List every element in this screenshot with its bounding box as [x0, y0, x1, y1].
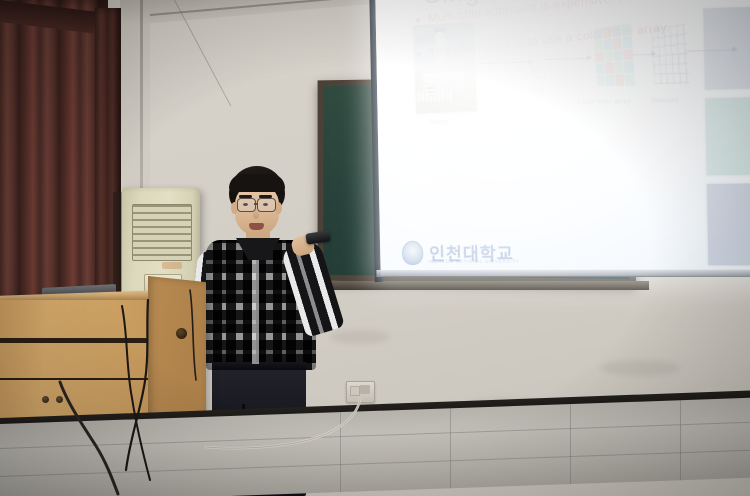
color-filter-array — [593, 23, 635, 86]
cfa-cell-3-0 — [596, 63, 605, 74]
university-crest-icon — [402, 240, 423, 264]
podium-side-hole — [176, 328, 187, 339]
output-image-panel-1 — [703, 6, 750, 90]
picket-fence — [418, 90, 453, 102]
cfa-cell-1-2 — [612, 37, 622, 49]
floor-tile-line — [570, 404, 571, 484]
ac-brand-badge — [162, 262, 182, 269]
cfa-cell-1-1 — [603, 38, 612, 50]
label-color-filter-array: Color filter array — [577, 98, 631, 106]
cfa-cell-0-3 — [621, 23, 631, 36]
cfa-cell-2-0 — [595, 51, 604, 62]
outlet-socket-round — [360, 385, 370, 394]
floor-tile-line — [680, 400, 681, 480]
screen-surface: Single Multi-chip approach is expensive.… — [375, 0, 750, 276]
cfa-cell-4-2 — [615, 74, 625, 86]
label-lens: Lens — [529, 86, 545, 94]
outlet-socket-square — [350, 386, 360, 396]
presenter-mouth — [249, 223, 264, 230]
presenter-belt — [212, 362, 306, 370]
cfa-cell-1-0 — [594, 40, 603, 52]
podium-vent-hole — [42, 396, 49, 403]
flag — [427, 87, 434, 96]
presentation-clicker — [305, 230, 330, 245]
glasses-lens-right — [257, 198, 276, 212]
cfa-cell-4-3 — [625, 74, 635, 86]
floor-tile-line — [0, 422, 750, 449]
presenter-nose — [253, 208, 259, 219]
label-scene: Scene — [430, 118, 450, 125]
wall-power-outlet[interactable] — [346, 381, 375, 403]
cfa-cell-2-2 — [613, 49, 623, 61]
cfa-cell-3-1 — [605, 63, 614, 75]
arrow-lens-to-cfa — [545, 58, 589, 61]
cfa-cell-4-0 — [596, 75, 605, 86]
arrow-head-icon — [587, 55, 592, 61]
window-curtain — [0, 0, 108, 320]
floor-tile-line — [450, 408, 451, 488]
ac-vent-grille — [132, 204, 192, 261]
cfa-cell-1-3 — [622, 36, 632, 49]
podium-vent-hole — [56, 396, 63, 403]
podium-seam — [0, 378, 152, 380]
presenter-hair-fringe — [229, 174, 285, 192]
lecture-room-photo: Single Multi-chip approach is expensive.… — [0, 0, 750, 496]
wall-scuff — [330, 330, 390, 344]
cfa-cell-0-1 — [602, 26, 611, 38]
projection-screen: Single Multi-chip approach is expensive.… — [375, 0, 750, 282]
imaging-pipeline-diagram: Scene Lens Color filter array Sensors — [375, 0, 750, 276]
sensor-array — [651, 24, 689, 85]
glasses-bridge — [254, 203, 258, 205]
wall-scuff — [600, 360, 680, 376]
cfa-cell-2-1 — [604, 51, 613, 63]
output-image-panel-2 — [705, 97, 750, 176]
floor-tile-line — [0, 450, 750, 477]
lens-glyph — [526, 46, 551, 82]
cfa-cell-3-2 — [614, 62, 624, 74]
floor-tile-line — [340, 412, 341, 492]
chalk-tray — [321, 281, 649, 290]
arrow-scene-to-lens — [481, 62, 530, 65]
presenter-ear-right — [275, 202, 282, 214]
label-sensors: Sensors — [651, 97, 678, 105]
lighthouse-tower — [435, 32, 446, 77]
cfa-cell-3-3 — [624, 61, 634, 73]
scene-photo-thumbnail — [413, 22, 477, 114]
cfa-cell-0-2 — [612, 25, 622, 38]
screen-bottom-rail — [377, 269, 750, 277]
cfa-cell-4-1 — [605, 75, 614, 86]
podium-seam — [0, 338, 152, 343]
shirt-placket — [252, 252, 259, 364]
cfa-cell-0-0 — [593, 28, 602, 40]
university-name-en: INCHEON NATIONAL UNIVERSITY — [428, 259, 519, 264]
output-image-panel-3 — [707, 183, 750, 265]
